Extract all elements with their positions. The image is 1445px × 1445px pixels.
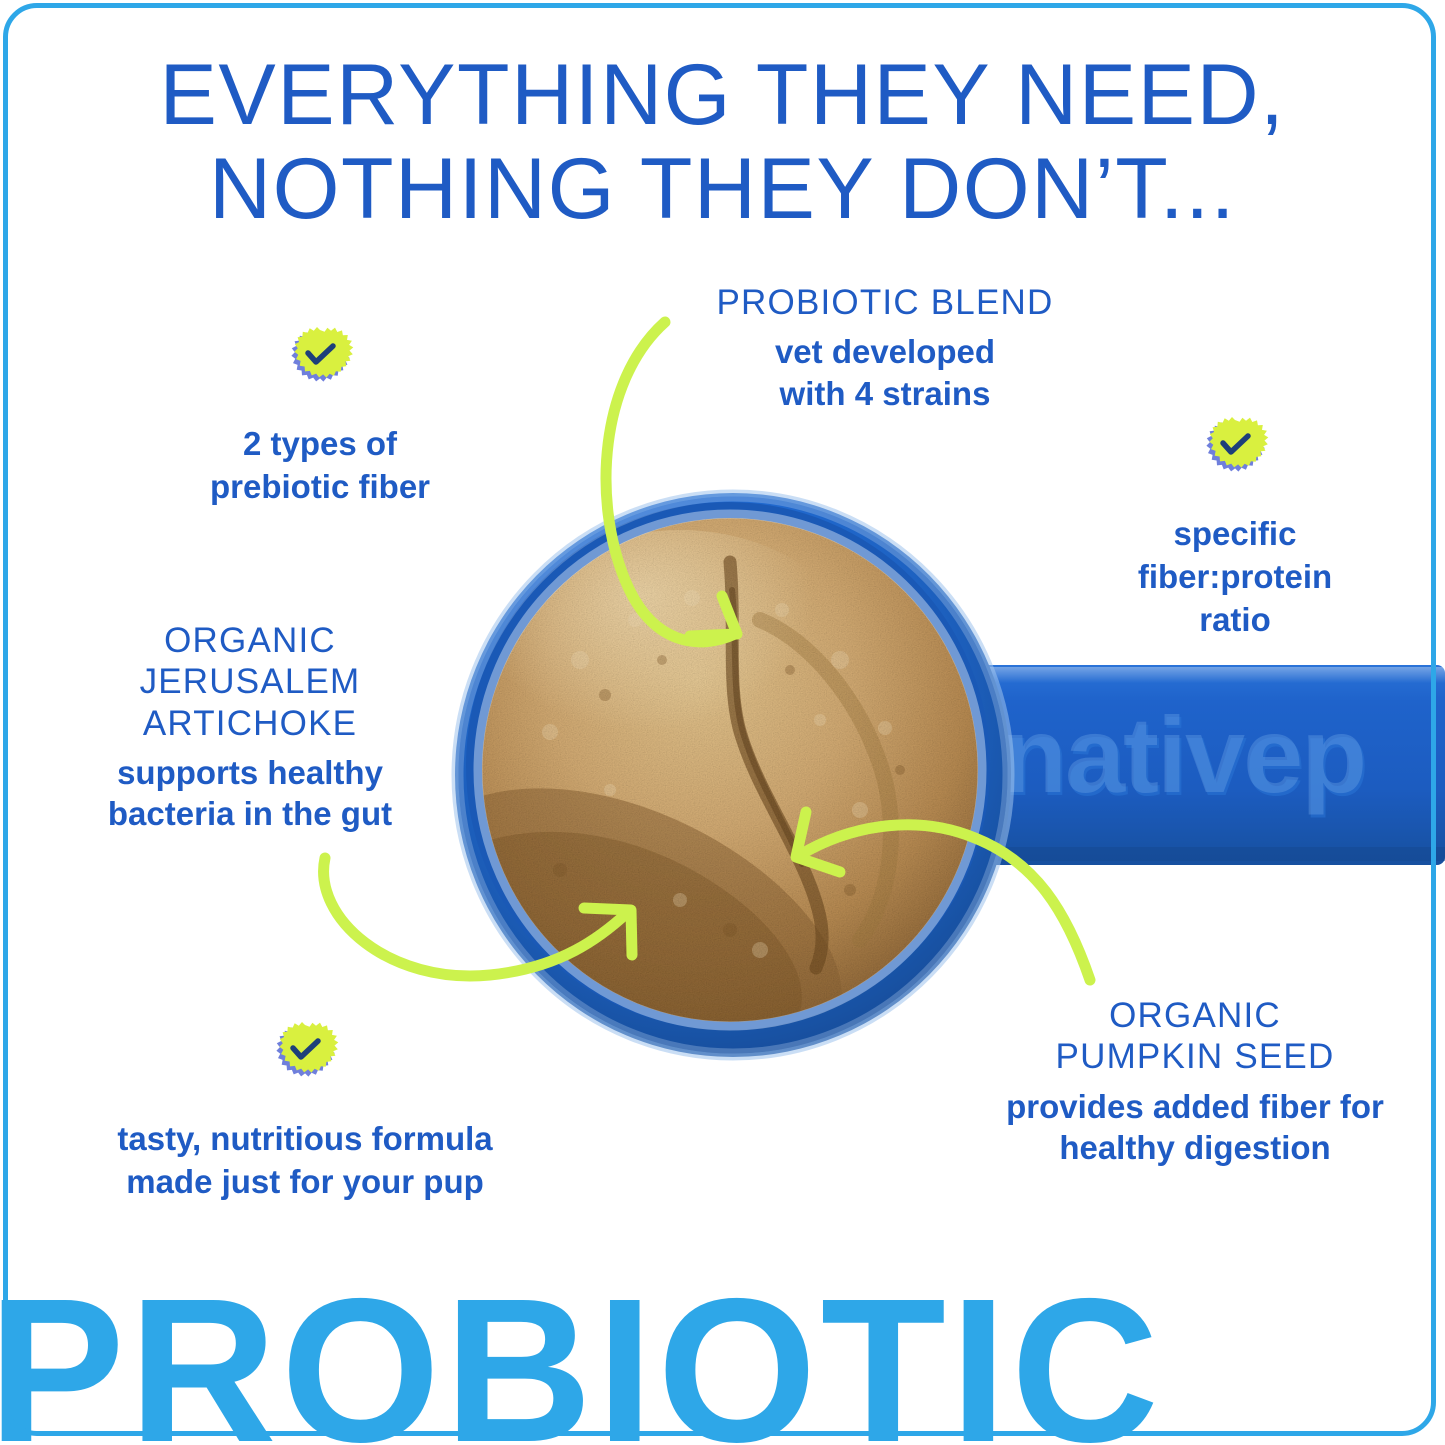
svg-text:nativep: nativep — [1001, 694, 1365, 815]
callout-jerusalem-artichoke-sub: supports healthy bacteria in the gut — [40, 752, 460, 835]
callout-jerusalem-artichoke: ORGANIC JERUSALEM ARTICHOKE supports hea… — [40, 620, 460, 835]
headline-line-2: NOTHING THEY DON’T... — [0, 146, 1445, 234]
check-icon — [1196, 415, 1274, 493]
badge-prebiotic-fiber-label: 2 types of prebiotic fiber — [150, 423, 490, 509]
wordmark-probiotic: PROBIOTIC — [0, 1268, 1445, 1445]
callout-pumpkin-seed: ORGANIC PUMPKIN SEED provides added fibe… — [965, 995, 1425, 1169]
callout-pumpkin-seed-title: ORGANIC PUMPKIN SEED — [965, 995, 1425, 1078]
headline: EVERYTHING THEY NEED, NOTHING THEY DON’T… — [0, 52, 1445, 233]
promo-graphic: nativep nativep — [0, 0, 1445, 1445]
badge-prebiotic-fiber: 2 types of prebiotic fiber — [150, 325, 490, 509]
check-icon — [266, 1020, 344, 1098]
callout-probiotic-blend: PROBIOTIC BLEND vet developed with 4 str… — [655, 282, 1115, 414]
badge-tasty-formula: tasty, nutritious formula made just for … — [60, 1020, 550, 1204]
badge-tasty-formula-label: tasty, nutritious formula made just for … — [60, 1118, 550, 1204]
callout-probiotic-blend-sub: vet developed with 4 strains — [655, 331, 1115, 414]
callout-pumpkin-seed-sub: provides added fiber for healthy digesti… — [965, 1086, 1425, 1169]
badge-fiber-protein-ratio: specific fiber:protein ratio — [1065, 415, 1405, 642]
callout-probiotic-blend-title: PROBIOTIC BLEND — [655, 282, 1115, 323]
badge-fiber-protein-ratio-label: specific fiber:protein ratio — [1065, 513, 1405, 642]
check-icon — [281, 325, 359, 403]
headline-line-1: EVERYTHING THEY NEED, — [0, 52, 1445, 140]
callout-jerusalem-artichoke-title: ORGANIC JERUSALEM ARTICHOKE — [40, 620, 460, 744]
scoop-with-powder-photo — [430, 470, 1050, 1090]
